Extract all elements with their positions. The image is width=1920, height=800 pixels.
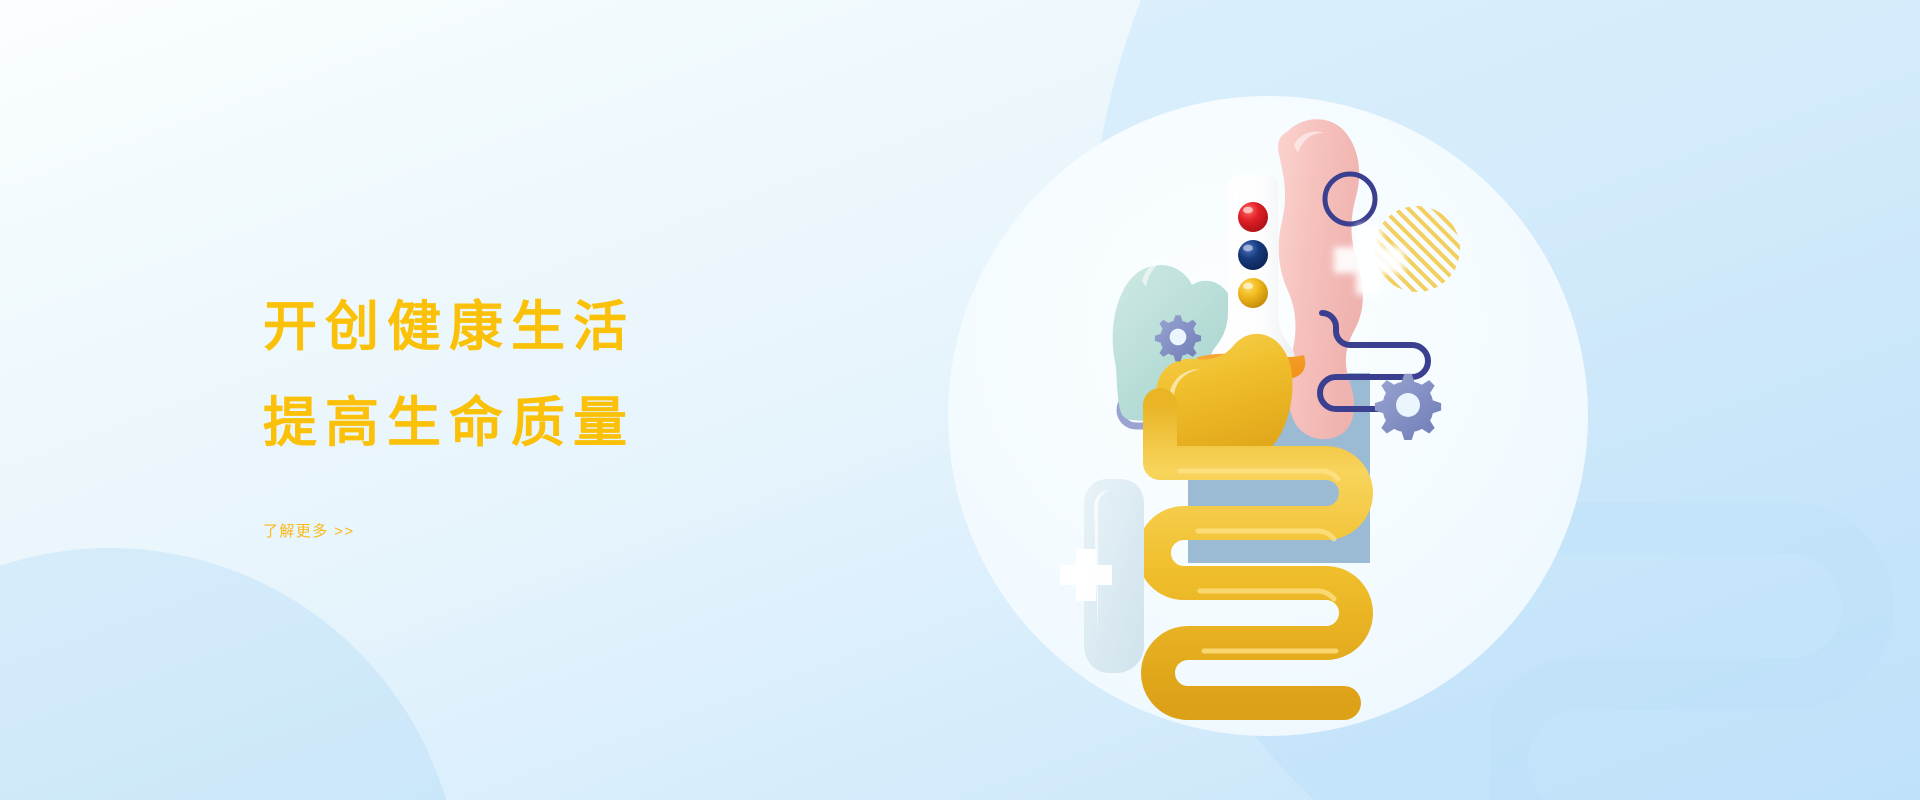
pill-navy <box>1238 240 1268 270</box>
background-arc-bottom-left <box>0 548 460 800</box>
pill-gold <box>1238 278 1268 308</box>
pill-red <box>1238 202 1268 232</box>
hero-banner: 开创健康生活 提高生命质量 了解更多 >> <box>0 0 1920 800</box>
learn-more-link[interactable]: 了解更多 >> <box>263 520 355 541</box>
gear-icon-small <box>1155 315 1201 361</box>
headline-line-2: 提高生命质量 <box>263 396 903 450</box>
gear-icon-large <box>1375 374 1441 440</box>
headline-line-1: 开创健康生活 <box>263 300 903 354</box>
hero-copy-block: 开创健康生活 提高生命质量 了解更多 >> <box>263 300 903 541</box>
digestive-system-illustration <box>1060 105 1520 725</box>
